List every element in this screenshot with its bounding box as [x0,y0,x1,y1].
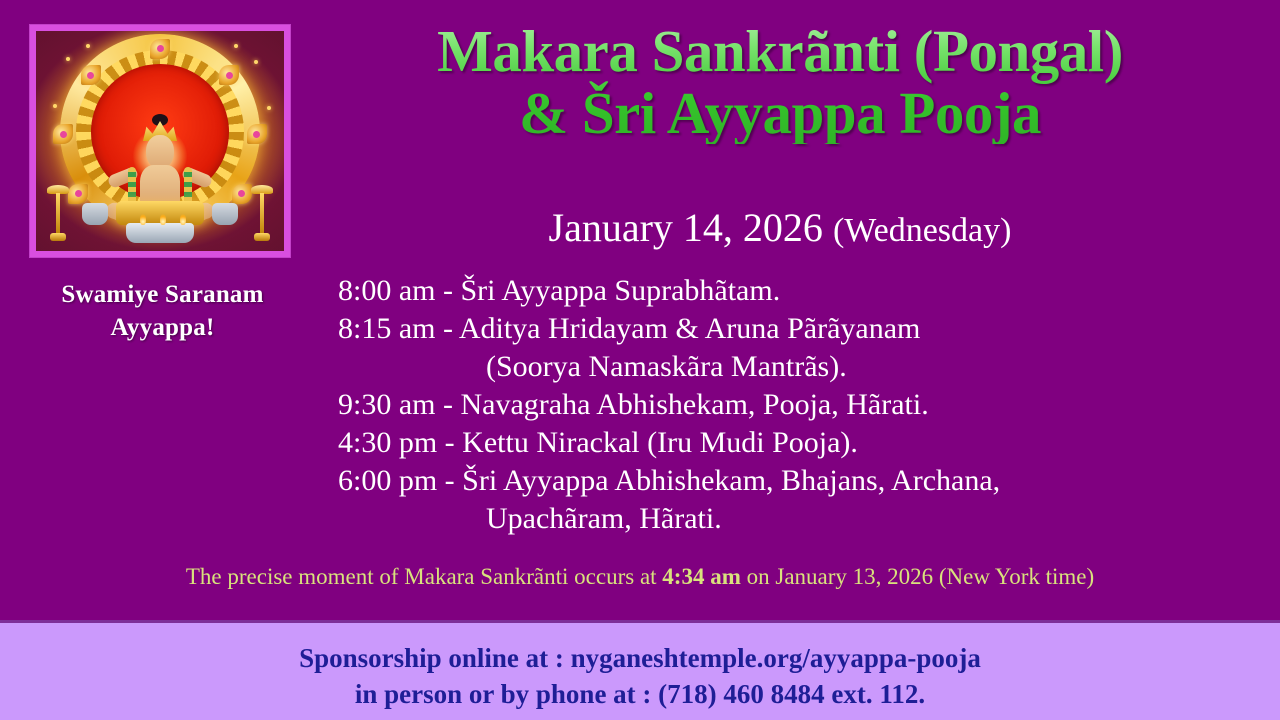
schedule-row: 8:00 am - Šri Ayyappa Suprabhãtam. [338,272,1238,310]
schedule-continuation: Upachãram, Hãrati. [338,500,1238,538]
title-line-1: Makara Sankrãnti (Pongal) [300,20,1260,82]
schedule-time: 9:30 am [338,388,436,421]
deity-head [146,135,174,169]
flame-icon [160,214,166,225]
lotus-petal-icon [232,184,252,204]
schedule-description: Šri Ayyappa Abhishekam, Bhajans, Archana… [462,464,1000,497]
sparkle-icon [254,60,258,64]
sparkle-icon [53,104,57,108]
lotus-petal-icon [150,39,170,59]
schedule-time: 4:30 pm [338,426,437,459]
schedule-continuation: (Soorya Namaskãra Mantrãs). [338,348,1238,386]
sparkle-icon [66,57,70,61]
schedule-description: Aditya Hridayam & Aruna Pãrãyanam [459,312,921,345]
schedule-description: Navagraha Abhishekam, Pooja, Hãrati. [461,388,929,421]
schedule-description: Kettu Nirackal (Iru Mudi Pooja). [462,426,858,459]
sankranti-moment-note: The precise moment of Makara Sankrãnti o… [0,562,1280,592]
schedule-separator: - [436,312,459,345]
schedule-row: 4:30 pm - Kettu Nirackal (Iru Mudi Pooja… [338,424,1238,462]
lotus-petal-icon [68,184,88,204]
oil-lamp-right [254,185,270,241]
lotus-petal-icon [81,65,101,85]
schedule-separator: - [437,464,462,497]
note-highlight-time: 4:34 am [662,564,741,589]
title-line-2: & Šri Ayyappa Pooja [300,82,1260,144]
schedule-time: 6:00 pm [338,464,437,497]
schedule-time: 8:00 am [338,274,436,307]
silver-pot-left [82,203,108,225]
caption-line-1: Swamiye Saranam [20,278,305,311]
schedule-time: 8:15 am [338,312,436,345]
schedule-row: 8:15 am - Aditya Hridayam & Aruna Pãrãya… [338,310,1238,348]
schedule-description: Šri Ayyappa Suprabhãtam. [461,274,781,307]
flame-icon [140,214,146,225]
event-date-main: January 14, 2026 [549,205,833,250]
event-date: January 14, 2026 (Wednesday) [300,204,1260,255]
note-text-after: on January 13, 2026 (New York time) [741,564,1094,589]
note-text-before: The precise moment of Makara Sankrãnti o… [186,564,662,589]
page-title: Makara Sankrãnti (Pongal) & Šri Ayyappa … [300,20,1260,144]
schedule-separator: - [436,388,461,421]
ayyappa-deity-illustration [36,31,284,251]
sponsorship-phone-line: in person or by phone at : (718) 460 848… [0,676,1280,712]
flyer-poster: Swamiye Saranam Ayyappa! Makara Sankrãnt… [0,0,1280,720]
flame-icon [180,214,186,225]
caption-line-2: Ayyappa! [20,311,305,344]
sparkle-icon [86,44,90,48]
ayyappa-deity-image-frame [30,25,290,257]
sponsorship-banner[interactable]: Sponsorship online at : nyganeshtemple.o… [0,620,1280,720]
silver-pot-right [212,203,238,225]
oil-lamp-left [50,185,66,241]
sparkle-icon [234,44,238,48]
offering-tray [126,223,194,243]
schedule-row: 6:00 pm - Šri Ayyappa Abhishekam, Bhajan… [338,462,1238,500]
event-schedule: 8:00 am - Šri Ayyappa Suprabhãtam.8:15 a… [338,272,1238,538]
sparkle-icon [267,106,271,110]
schedule-separator: - [437,426,462,459]
schedule-separator: - [436,274,461,307]
sponsorship-online-line[interactable]: Sponsorship online at : nyganeshtemple.o… [0,640,1280,676]
schedule-row: 9:30 am - Navagraha Abhishekam, Pooja, H… [338,386,1238,424]
event-date-weekday: (Wednesday) [833,212,1012,249]
lotus-petal-icon [247,124,267,144]
deity-caption: Swamiye Saranam Ayyappa! [20,278,305,344]
